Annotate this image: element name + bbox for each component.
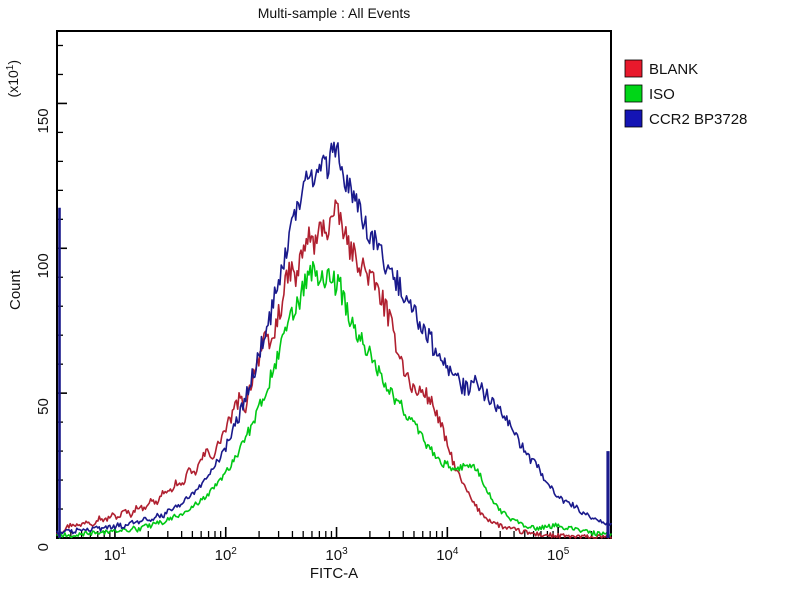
legend-label: ISO [649, 86, 675, 103]
y-tick-label: 100 [35, 253, 52, 278]
svg-text:(x101): (x101) [5, 60, 21, 97]
svg-text:105: 105 [547, 546, 570, 564]
legend-label: CCR2 BP3728 [649, 111, 747, 128]
legend-item-ccr2-bp3728[interactable]: CCR2 BP3728 [625, 110, 747, 128]
chart-title: Multi-sample : All Events [258, 5, 411, 21]
y-axis-ticks: 050100150 [35, 45, 67, 551]
histogram-svg: Multi-sample : All Events (x101) Count F… [0, 0, 800, 600]
x-tick-label: 102 [215, 546, 238, 564]
curve-blank [57, 200, 611, 538]
legend-swatch [625, 60, 642, 77]
y-tick-label: 150 [35, 108, 52, 133]
y-tick-label: 50 [35, 398, 52, 415]
curve-ccr2-bp3728 [57, 142, 611, 534]
histogram-curves [57, 142, 611, 538]
legend-label: BLANK [649, 61, 698, 78]
svg-text:103: 103 [325, 546, 348, 564]
svg-text:102: 102 [215, 546, 238, 564]
flow-cytometry-histogram: Multi-sample : All Events (x101) Count F… [0, 0, 800, 600]
x-tick-label: 101 [104, 546, 127, 564]
legend-swatch [625, 85, 642, 102]
y-axis-label: Count [7, 269, 24, 310]
legend: BLANKISOCCR2 BP3728 [625, 60, 747, 128]
x-axis-label: FITC-A [310, 565, 358, 582]
y-mult-close: ) [5, 60, 21, 65]
y-tick-label: 0 [35, 543, 52, 551]
svg-text:104: 104 [436, 546, 459, 564]
legend-swatch [625, 110, 642, 127]
curve-iso [57, 262, 611, 538]
legend-item-iso[interactable]: ISO [625, 85, 675, 103]
legend-item-blank[interactable]: BLANK [625, 60, 698, 78]
svg-text:101: 101 [104, 546, 127, 564]
x-tick-label: 104 [436, 546, 459, 564]
x-tick-label: 105 [547, 546, 570, 564]
y-mult-open: (x10 [5, 70, 21, 97]
x-tick-label: 103 [325, 546, 348, 564]
y-axis-multiplier: (x101) [5, 60, 21, 97]
